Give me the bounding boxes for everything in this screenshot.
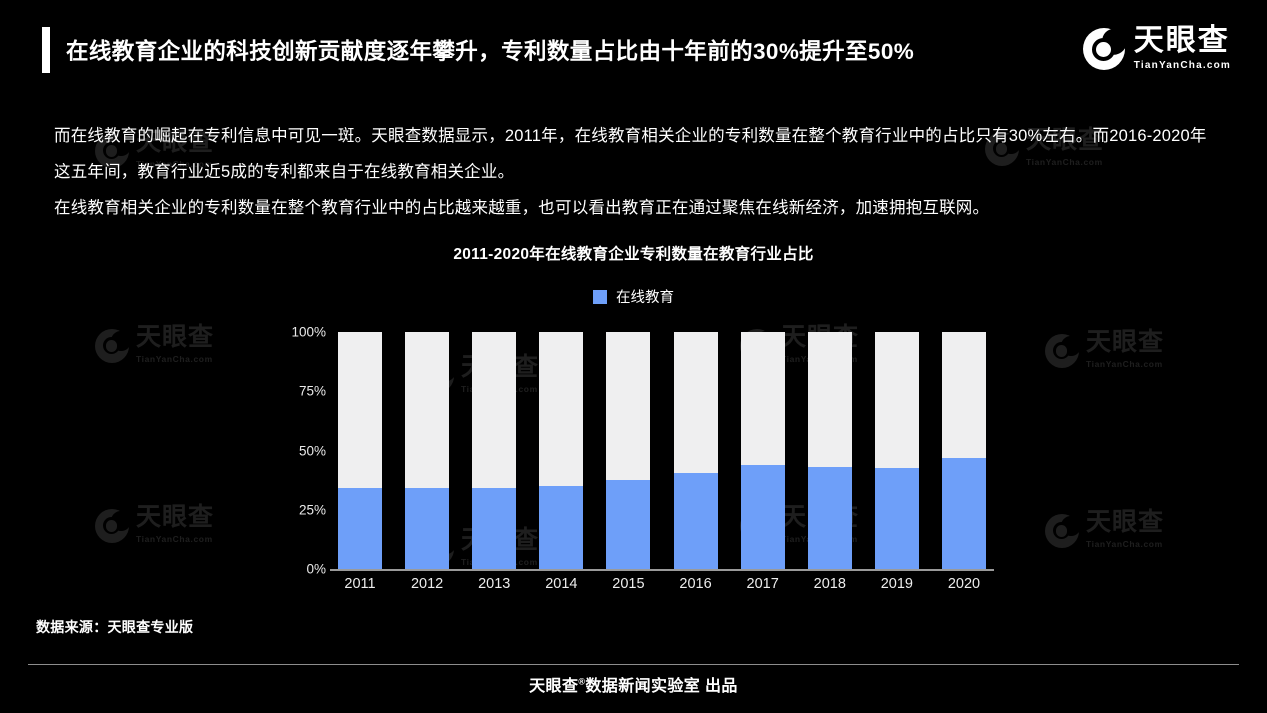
x-axis-tick: 2017 [741, 576, 785, 592]
footer-divider [28, 664, 1239, 665]
bar-segment-online-education [539, 486, 583, 569]
y-axis: 100%75%50%25%0% [270, 324, 332, 577]
intro-paragraph-2: 在线教育相关企业的专利数量在整个教育行业中的占比越来越重，也可以看出教育正在通过… [54, 190, 1221, 226]
brand-name-en: TianYanCha.com [1134, 60, 1231, 71]
x-axis-tick: 2012 [405, 576, 449, 592]
bar-segment-online-education [606, 480, 650, 569]
y-axis-tick: 75% [299, 384, 326, 399]
bar-column[interactable] [472, 332, 516, 569]
bar-column[interactable] [741, 332, 785, 569]
x-axis-tick: 2016 [674, 576, 718, 592]
bar-column[interactable] [405, 332, 449, 569]
intro-paragraph-1: 而在线教育的崛起在专利信息中可见一斑。天眼查数据显示，2011年，在线教育相关企… [54, 118, 1221, 190]
legend-swatch-online-education [593, 290, 607, 304]
legend-label-online-education: 在线教育 [616, 286, 674, 307]
y-axis-tick: 50% [299, 443, 326, 458]
x-axis-tick: 2019 [875, 576, 919, 592]
x-axis-tick: 2015 [606, 576, 650, 592]
bars-container [338, 332, 986, 569]
brand-name-cn: 天眼查 [1134, 24, 1230, 57]
bar-column[interactable] [875, 332, 919, 569]
bar-segment-online-education [942, 458, 986, 569]
bar-column[interactable] [942, 332, 986, 569]
chart-legend: 在线教育 [0, 286, 1267, 307]
footer-credit-brand: 天眼查 [529, 678, 578, 695]
bar-segment-online-education [674, 473, 718, 569]
chart-plot-area: 100%75%50%25%0% 201120122013201420152016… [0, 324, 1267, 584]
x-axis-labels: 2011201220132014201520162017201820192020 [338, 576, 986, 602]
y-axis-tick: 0% [306, 562, 326, 577]
y-axis-tick: 100% [291, 325, 326, 340]
x-axis-tick: 2011 [338, 576, 382, 592]
x-axis-tick: 2018 [808, 576, 852, 592]
bar-column[interactable] [539, 332, 583, 569]
intro-text: 而在线教育的崛起在专利信息中可见一斑。天眼查数据显示，2011年，在线教育相关企… [54, 118, 1221, 226]
chart-block: 2011-2020年在线教育企业专利数量在教育行业占比 在线教育 100%75%… [0, 242, 1267, 584]
source-note: 数据来源：天眼查专业版 [36, 617, 193, 637]
brand-logo: 天眼查 TianYanCha.com [1083, 26, 1231, 72]
bar-column[interactable] [338, 332, 382, 569]
page-header: 在线教育企业的科技创新贡献度逐年攀升，专利数量占比由十年前的30%提升至50% … [0, 0, 1267, 100]
y-axis-tick: 25% [299, 502, 326, 517]
x-axis-tick: 2013 [472, 576, 516, 592]
x-axis-line [330, 569, 994, 571]
header-accent-bar [42, 27, 50, 73]
tianyancha-logo-icon [1083, 28, 1125, 70]
page-title: 在线教育企业的科技创新贡献度逐年攀升，专利数量占比由十年前的30%提升至50% [66, 34, 914, 66]
footer-credit: 天眼查®数据新闻实验室 出品 [0, 672, 1267, 696]
bar-segment-online-education [875, 468, 919, 569]
bar-segment-online-education [338, 488, 382, 569]
bar-column[interactable] [674, 332, 718, 569]
footer-credit-text: 数据新闻实验室 出品 [585, 678, 737, 695]
bar-segment-online-education [405, 488, 449, 569]
x-axis-tick: 2020 [942, 576, 986, 592]
bar-segment-online-education [808, 467, 852, 569]
chart-title: 2011-2020年在线教育企业专利数量在教育行业占比 [0, 242, 1267, 264]
bar-column[interactable] [808, 332, 852, 569]
bar-segment-online-education [741, 465, 785, 569]
x-axis-tick: 2014 [539, 576, 583, 592]
bar-segment-online-education [472, 488, 516, 569]
bar-column[interactable] [606, 332, 650, 569]
